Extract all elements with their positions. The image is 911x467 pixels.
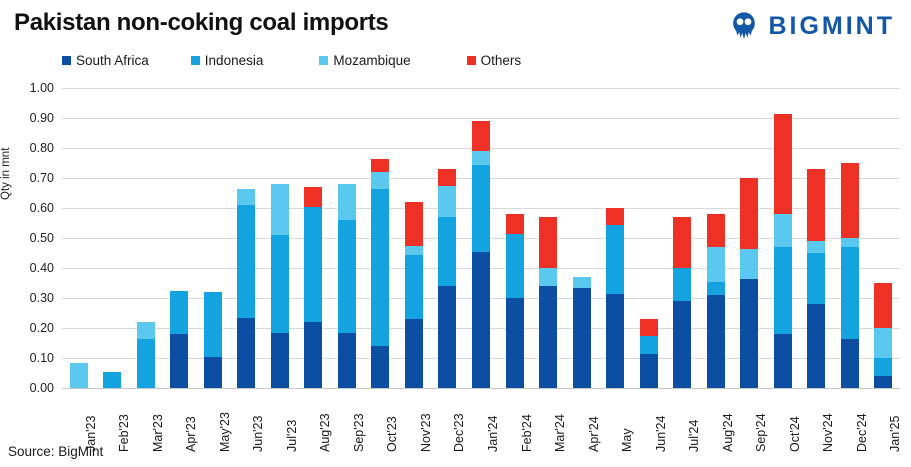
bar-stack[interactable] xyxy=(338,184,356,388)
bar-segment-mozambique[interactable] xyxy=(539,268,557,286)
bar-segment-indonesia[interactable] xyxy=(271,235,289,333)
bar-segment-south-africa[interactable] xyxy=(673,301,691,388)
bar-segment-mozambique[interactable] xyxy=(237,189,255,206)
bigmint-mascot-icon xyxy=(729,11,759,41)
y-tick-label: 0.30 xyxy=(6,291,54,305)
bar-segment-others[interactable] xyxy=(774,114,792,215)
bar-segment-others[interactable] xyxy=(673,217,691,268)
bar-segment-others[interactable] xyxy=(707,214,725,247)
x-tick-label: Feb'23 xyxy=(117,414,131,452)
y-tick-label: 0.40 xyxy=(6,261,54,275)
y-tick-label: 0.90 xyxy=(6,111,54,125)
bar-segment-indonesia[interactable] xyxy=(606,225,624,294)
bar-segment-south-africa[interactable] xyxy=(874,376,892,388)
x-tick-label: May'23 xyxy=(218,412,232,452)
bar-segment-south-africa[interactable] xyxy=(304,322,322,388)
x-tick-label: Apr'24 xyxy=(587,416,601,452)
legend-label: Others xyxy=(481,53,522,68)
bar-stack[interactable] xyxy=(438,169,456,388)
page-title: Pakistan non-coking coal imports xyxy=(14,9,388,37)
y-tick-label: 1.00 xyxy=(6,81,54,95)
bar-segment-mozambique[interactable] xyxy=(472,151,490,165)
x-tick-label: Jun'24 xyxy=(654,416,668,452)
x-tick-label: Jun'23 xyxy=(251,416,265,452)
bar-segment-indonesia[interactable] xyxy=(103,372,121,389)
gridline xyxy=(62,88,900,89)
bar-segment-south-africa[interactable] xyxy=(338,333,356,389)
bar-segment-mozambique[interactable] xyxy=(707,247,725,282)
x-tick-label: Mar'23 xyxy=(151,414,165,452)
bar-stack[interactable] xyxy=(506,214,524,388)
bar-stack[interactable] xyxy=(774,114,792,389)
gridline xyxy=(62,388,900,389)
bar-segment-south-africa[interactable] xyxy=(640,354,658,389)
x-tick-label: Dec'23 xyxy=(452,413,466,452)
bar-segment-indonesia[interactable] xyxy=(874,358,892,376)
x-tick-label: Oct'24 xyxy=(788,416,802,452)
bar-segment-indonesia[interactable] xyxy=(338,220,356,333)
bar-stack[interactable] xyxy=(405,202,423,388)
x-tick-label: Sep'24 xyxy=(754,413,768,452)
bar-segment-mozambique[interactable] xyxy=(371,172,389,189)
bar-segment-indonesia[interactable] xyxy=(807,253,825,304)
bar-segment-others[interactable] xyxy=(874,283,892,328)
plot-area xyxy=(62,88,900,388)
bar-segment-south-africa[interactable] xyxy=(539,286,557,388)
bar-segment-south-africa[interactable] xyxy=(707,295,725,388)
bar-segment-others[interactable] xyxy=(371,159,389,173)
bar-segment-indonesia[interactable] xyxy=(137,339,155,389)
bar-segment-mozambique[interactable] xyxy=(405,246,423,255)
bar-stack[interactable] xyxy=(271,184,289,388)
bar-segment-indonesia[interactable] xyxy=(170,291,188,335)
x-tick-label: Aug'23 xyxy=(318,413,332,452)
legend-item-mozambique[interactable]: Mozambique xyxy=(319,53,410,68)
x-tick-label: Nov'24 xyxy=(821,413,835,452)
bar-segment-south-africa[interactable] xyxy=(573,288,591,389)
bar-segment-indonesia[interactable] xyxy=(774,247,792,334)
x-tick-label: Jan'25 xyxy=(888,416,902,452)
bar-segment-indonesia[interactable] xyxy=(707,282,725,296)
bar-segment-indonesia[interactable] xyxy=(640,336,658,354)
bar-segment-indonesia[interactable] xyxy=(371,189,389,347)
bar-segment-others[interactable] xyxy=(539,217,557,268)
bar-segment-indonesia[interactable] xyxy=(472,165,490,252)
bar-segment-south-africa[interactable] xyxy=(472,252,490,389)
bar-segment-south-africa[interactable] xyxy=(841,339,859,389)
legend-item-south-africa[interactable]: South Africa xyxy=(62,53,149,68)
source-note: Source: BigMint xyxy=(8,444,103,459)
bigmint-logo: BIGMINT xyxy=(729,11,895,41)
bar-segment-mozambique[interactable] xyxy=(774,214,792,247)
legend-label: Mozambique xyxy=(333,53,410,68)
legend-swatch-icon xyxy=(62,56,71,65)
bar-segment-south-africa[interactable] xyxy=(606,294,624,389)
bar-segment-mozambique[interactable] xyxy=(438,186,456,218)
bar-segment-others[interactable] xyxy=(438,169,456,186)
x-tick-label: Feb'24 xyxy=(520,414,534,452)
bar-stack[interactable] xyxy=(70,363,88,389)
bar-stack[interactable] xyxy=(137,322,155,388)
bar-stack[interactable] xyxy=(673,217,691,388)
x-tick-label: Nov'23 xyxy=(419,413,433,452)
bar-segment-mozambique[interactable] xyxy=(137,322,155,339)
legend-swatch-icon xyxy=(191,56,200,65)
bar-segment-south-africa[interactable] xyxy=(506,298,524,388)
bar-segment-others[interactable] xyxy=(807,169,825,241)
brand-name: BIGMINT xyxy=(768,14,895,39)
bar-stack[interactable] xyxy=(237,189,255,389)
bar-segment-indonesia[interactable] xyxy=(506,234,524,299)
bar-segment-indonesia[interactable] xyxy=(438,217,456,286)
bar-segment-others[interactable] xyxy=(405,202,423,246)
legend-swatch-icon xyxy=(467,56,476,65)
y-tick-label: 0.00 xyxy=(6,381,54,395)
y-tick-label: 0.50 xyxy=(6,231,54,245)
bar-segment-others[interactable] xyxy=(506,214,524,234)
bar-segment-others[interactable] xyxy=(841,163,859,238)
bar-segment-others[interactable] xyxy=(472,121,490,151)
bar-stack[interactable] xyxy=(740,178,758,388)
chart-page: Pakistan non-coking coal imports BIGMINT… xyxy=(0,0,911,467)
bar-stack[interactable] xyxy=(573,277,591,388)
chart-legend: South AfricaIndonesiaMozambiqueOthers xyxy=(62,50,521,70)
bar-stack[interactable] xyxy=(103,372,121,389)
bar-segment-indonesia[interactable] xyxy=(673,268,691,301)
x-axis-tick-labels: Jan'23Feb'23Mar'23Apr'23May'23Jun'23Jul'… xyxy=(62,390,900,460)
bar-segment-mozambique[interactable] xyxy=(874,328,892,358)
bar-segment-others[interactable] xyxy=(606,208,624,225)
x-tick-label: Jul'23 xyxy=(285,420,299,452)
bar-segment-south-africa[interactable] xyxy=(740,279,758,389)
bar-segment-south-africa[interactable] xyxy=(807,304,825,388)
bar-stack[interactable] xyxy=(304,187,322,388)
x-tick-label: Aug'24 xyxy=(721,413,735,452)
bar-segment-indonesia[interactable] xyxy=(405,255,423,320)
bar-segment-indonesia[interactable] xyxy=(304,207,322,323)
y-tick-label: 0.20 xyxy=(6,321,54,335)
bar-segment-south-africa[interactable] xyxy=(438,286,456,388)
bar-segment-south-africa[interactable] xyxy=(405,319,423,388)
legend-item-others[interactable]: Others xyxy=(467,53,522,68)
x-tick-label: May xyxy=(620,428,634,452)
bar-segment-mozambique[interactable] xyxy=(573,277,591,288)
legend-item-indonesia[interactable]: Indonesia xyxy=(191,53,264,68)
bar-stack[interactable] xyxy=(371,159,389,389)
legend-swatch-icon xyxy=(319,56,328,65)
bar-stack[interactable] xyxy=(539,217,557,388)
y-tick-label: 0.80 xyxy=(6,141,54,155)
x-tick-label: Jan'24 xyxy=(486,416,500,452)
bar-segment-mozambique[interactable] xyxy=(338,184,356,220)
bar-segment-others[interactable] xyxy=(304,187,322,207)
bar-segment-south-africa[interactable] xyxy=(774,334,792,388)
bar-segment-mozambique[interactable] xyxy=(271,184,289,235)
legend-label: South Africa xyxy=(76,53,149,68)
bar-segment-south-africa[interactable] xyxy=(170,334,188,388)
bar-segment-south-africa[interactable] xyxy=(371,346,389,388)
bar-stack[interactable] xyxy=(606,208,624,388)
bar-stack[interactable] xyxy=(472,121,490,388)
x-tick-label: Dec'24 xyxy=(855,413,869,452)
bar-stack[interactable] xyxy=(707,214,725,388)
bar-stack[interactable] xyxy=(204,292,222,388)
x-tick-label: Mar'24 xyxy=(553,414,567,452)
bar-segment-south-africa[interactable] xyxy=(237,318,255,389)
x-tick-label: Apr'23 xyxy=(184,416,198,452)
bar-segment-south-africa[interactable] xyxy=(204,357,222,389)
bar-segment-indonesia[interactable] xyxy=(841,247,859,339)
bar-stack[interactable] xyxy=(640,319,658,388)
y-tick-label: 0.60 xyxy=(6,201,54,215)
bar-segment-mozambique[interactable] xyxy=(841,238,859,247)
bar-segment-indonesia[interactable] xyxy=(204,292,222,357)
y-tick-label: 0.70 xyxy=(6,171,54,185)
bar-segment-others[interactable] xyxy=(740,178,758,249)
bar-segment-mozambique[interactable] xyxy=(740,249,758,279)
bar-segment-south-africa[interactable] xyxy=(271,333,289,389)
bar-stack[interactable] xyxy=(841,163,859,388)
bar-segment-others[interactable] xyxy=(640,319,658,336)
x-tick-label: Oct'23 xyxy=(385,416,399,452)
y-tick-label: 0.10 xyxy=(6,351,54,365)
bar-segment-indonesia[interactable] xyxy=(237,205,255,318)
bar-segment-mozambique[interactable] xyxy=(70,363,88,389)
bar-stack[interactable] xyxy=(807,169,825,388)
bar-stack[interactable] xyxy=(170,291,188,389)
x-tick-label: Jul'24 xyxy=(687,420,701,452)
legend-label: Indonesia xyxy=(205,53,264,68)
bar-stack[interactable] xyxy=(874,283,892,388)
bar-segment-mozambique[interactable] xyxy=(807,241,825,253)
x-tick-label: Sep'23 xyxy=(352,413,366,452)
y-axis-tick-labels: 0.000.100.200.300.400.500.600.700.800.90… xyxy=(6,88,54,388)
